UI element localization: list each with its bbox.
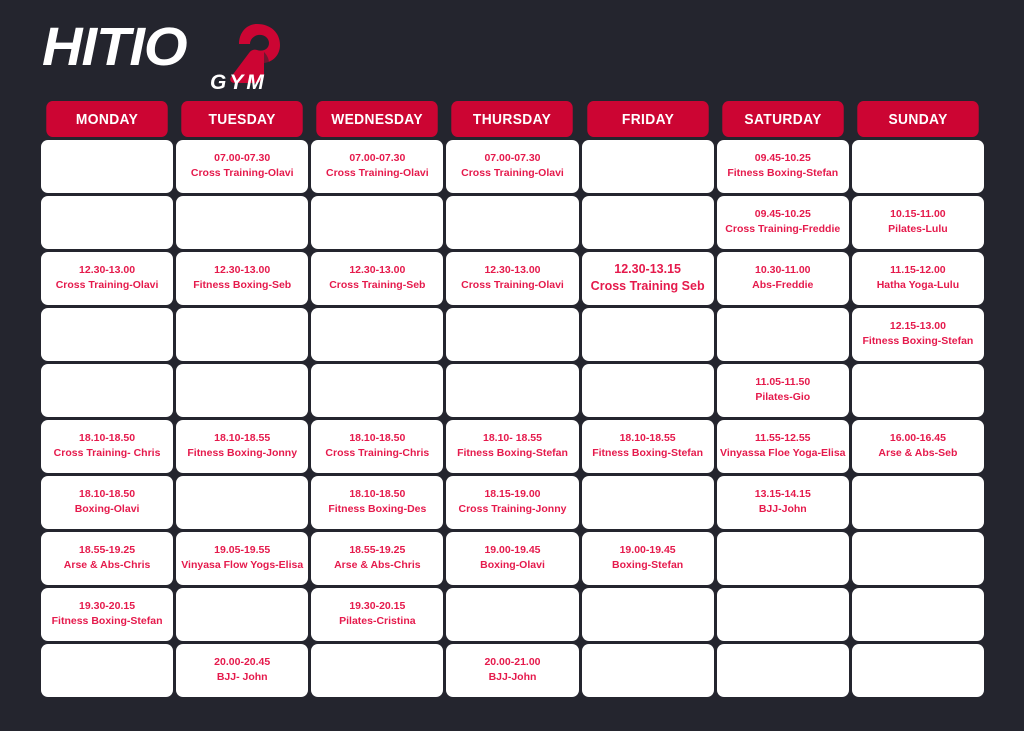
empty-slot [176,308,308,361]
class-name-instructor: Boxing-Olavi [480,560,545,572]
class-slot[interactable]: 18.10-18.55Fitness Boxing-Jonny [176,420,308,473]
class-time: 12.15-13.00 [890,321,946,333]
class-time: 18.10-18.50 [349,489,405,501]
empty-slot [582,196,714,249]
empty-slot [41,308,173,361]
class-name-instructor: Arse & Abs-Chris [334,560,421,572]
class-time: 18.10-18.55 [620,433,676,445]
class-time: 10.15-11.00 [890,209,945,221]
class-name-instructor: Fitness Boxing-Stefan [727,168,838,180]
day-header-thursday: THURSDAY [452,101,574,137]
class-name-instructor: Fitness Boxing-Seb [193,280,291,292]
day-header-saturday: SATURDAY [722,101,844,137]
empty-slot [717,308,849,361]
empty-slot [852,588,984,641]
class-time: 07.00-07.30 [484,153,540,165]
empty-slot [446,588,578,641]
class-time: 11.55-12.55 [755,433,810,445]
class-name-instructor: Cross Training-Olavi [461,280,564,292]
class-time: 09.45-10.25 [755,153,811,165]
empty-slot [582,364,714,417]
empty-slot [176,364,308,417]
class-time: 12.30-13.00 [484,265,540,277]
class-slot[interactable]: 19.00-19.45Boxing-Olavi [446,532,578,585]
class-time: 09.45-10.25 [755,209,811,221]
class-time: 19.30-20.15 [349,601,405,613]
empty-slot [41,140,173,193]
brand-subtitle: GYM [210,72,267,93]
class-time: 18.10-18.55 [214,433,270,445]
class-time: 07.00-07.30 [214,153,270,165]
class-slot[interactable]: 09.45-10.25Cross Training-Freddie [717,196,849,249]
empty-slot [41,644,173,697]
day-header-sunday: SUNDAY [857,101,979,137]
class-name-instructor: Cross Training-Olavi [326,168,429,180]
class-time: 18.10-18.50 [349,433,405,445]
class-slot[interactable]: 19.05-19.55Vinyasa Flow Yogs-Elisa [176,532,308,585]
class-name-instructor: Cross Training-Freddie [725,224,840,236]
empty-slot [446,364,578,417]
empty-slot [311,644,443,697]
class-time: 19.00-19.45 [620,545,676,557]
class-time: 20.00-21.00 [484,657,540,669]
class-slot[interactable]: 19.30-20.15Fitness Boxing-Stefan [41,588,173,641]
class-time: 18.10- 18.55 [483,433,542,445]
day-header-monday: MONDAY [46,101,168,137]
class-name-instructor: Fitness Boxing-Stefan [457,448,568,460]
class-slot[interactable]: 18.10-18.50Boxing-Olavi [41,476,173,529]
class-slot[interactable]: 16.00-16.45Arse & Abs-Seb [852,420,984,473]
empty-slot [717,532,849,585]
class-slot[interactable]: 13.15-14.15BJJ-John [717,476,849,529]
empty-slot [852,140,984,193]
class-name-instructor: Fitness Boxing-Stefan [862,336,973,348]
class-time: 19.05-19.55 [214,545,270,557]
class-slot[interactable]: 12.30-13.00Cross Training-Olavi [41,252,173,305]
class-slot[interactable]: 10.30-11.00Abs-Freddie [717,252,849,305]
class-time: 12.30-13.00 [349,265,405,277]
class-name-instructor: Arse & Abs-Chris [64,560,151,572]
class-time: 10.30-11.00 [755,265,810,277]
class-name-instructor: Arse & Abs-Seb [878,448,957,460]
weekly-schedule-grid: MONDAYTUESDAYWEDNESDAYTHURSDAYFRIDAYSATU… [41,101,984,697]
class-slot[interactable]: 18.10-18.50Fitness Boxing-Des [311,476,443,529]
class-name-instructor: Pilates-Gio [755,392,810,404]
class-slot[interactable]: 18.55-19.25Arse & Abs-Chris [41,532,173,585]
empty-slot [852,476,984,529]
class-slot[interactable]: 07.00-07.30Cross Training-Olavi [446,140,578,193]
class-name-instructor: Cross Training- Chris [54,448,161,460]
empty-slot [41,196,173,249]
empty-slot [311,364,443,417]
class-slot[interactable]: 18.10-18.50Cross Training- Chris [41,420,173,473]
empty-slot [446,196,578,249]
class-slot[interactable]: 18.10-18.50Cross Training-Chris [311,420,443,473]
class-name-instructor: BJJ-John [759,504,807,516]
day-header-tuesday: TUESDAY [181,101,303,137]
class-time: 07.00-07.30 [349,153,405,165]
class-name-instructor: Fitness Boxing-Jonny [187,448,297,460]
class-time: 11.15-12.00 [890,265,945,277]
class-time: 13.15-14.15 [755,489,811,501]
empty-slot [311,308,443,361]
class-name-instructor: Pilates-Lulu [888,224,948,236]
class-name-instructor: Boxing-Stefan [612,560,683,572]
class-slot[interactable]: 20.00-21.00BJJ-John [446,644,578,697]
class-time: 12.30-13.00 [214,265,270,277]
empty-slot [582,588,714,641]
empty-slot [311,196,443,249]
class-name-instructor: Boxing-Olavi [75,504,140,516]
empty-slot [852,364,984,417]
class-name-instructor: BJJ-John [489,672,537,684]
class-slot[interactable]: 11.05-11.50Pilates-Gio [717,364,849,417]
class-name-instructor: Cross Training-Seb [329,280,425,292]
class-slot[interactable]: 12.30-13.00Fitness Boxing-Seb [176,252,308,305]
class-time: 12.30-13.15 [614,263,681,277]
empty-slot [717,588,849,641]
class-time: 18.15-19.00 [484,489,540,501]
class-name-instructor: Abs-Freddie [752,280,813,292]
hitio-gym-logo: HITIO GYM [42,14,292,92]
empty-slot [582,476,714,529]
class-slot[interactable]: 11.55-12.55Vinyassa Floe Yoga-Elisa [717,420,849,473]
class-slot[interactable]: 07.00-07.30Cross Training-Olavi [311,140,443,193]
class-slot[interactable]: 10.15-11.00Pilates-Lulu [852,196,984,249]
class-name-instructor: BJJ- John [217,672,268,684]
class-slot[interactable]: 12.15-13.00Fitness Boxing-Stefan [852,308,984,361]
class-time: 16.00-16.45 [890,433,946,445]
class-name-instructor: Vinyassa Floe Yoga-Elisa [720,448,845,460]
class-name-instructor: Pilates-Cristina [339,616,415,628]
empty-slot [852,644,984,697]
class-time: 19.30-20.15 [79,601,135,613]
empty-slot [717,644,849,697]
empty-slot [582,140,714,193]
class-time: 18.10-18.50 [79,433,135,445]
class-slot[interactable]: 19.00-19.45Boxing-Stefan [582,532,714,585]
class-name-instructor: Cross Training-Jonny [459,504,567,516]
class-time: 12.30-13.00 [79,265,135,277]
class-time: 18.55-19.25 [79,545,135,557]
class-slot[interactable]: 07.00-07.30Cross Training-Olavi [176,140,308,193]
class-name-instructor: Fitness Boxing-Stefan [52,616,163,628]
empty-slot [176,476,308,529]
class-slot[interactable]: 18.15-19.00Cross Training-Jonny [446,476,578,529]
empty-slot [852,532,984,585]
class-slot[interactable]: 12.30-13.00Cross Training-Seb [311,252,443,305]
class-time: 18.10-18.50 [79,489,135,501]
empty-slot [176,196,308,249]
class-slot[interactable]: 12.30-13.00Cross Training-Olavi [446,252,578,305]
class-slot[interactable]: 18.10- 18.55Fitness Boxing-Stefan [446,420,578,473]
class-time: 19.00-19.45 [484,545,540,557]
class-slot[interactable]: 20.00-20.45BJJ- John [176,644,308,697]
class-name-instructor: Hatha Yoga-Lulu [877,280,959,292]
class-slot[interactable]: 12.30-13.15Cross Training Seb [582,252,714,305]
class-name-instructor: Cross Training-Olavi [191,168,294,180]
brand-wordmark: HITIO [42,20,187,74]
class-name-instructor: Cross Training Seb [591,280,705,294]
class-time: 20.00-20.45 [214,657,270,669]
day-header-friday: FRIDAY [587,101,709,137]
day-header-wednesday: WEDNESDAY [317,101,439,137]
class-name-instructor: Cross Training-Olavi [56,280,159,292]
class-time: 18.55-19.25 [349,545,405,557]
class-slot[interactable]: 09.45-10.25Fitness Boxing-Stefan [717,140,849,193]
class-slot[interactable]: 19.30-20.15Pilates-Cristina [311,588,443,641]
class-name-instructor: Vinyasa Flow Yogs-Elisa [181,560,303,572]
empty-slot [582,644,714,697]
empty-slot [582,308,714,361]
class-name-instructor: Fitness Boxing-Des [328,504,426,516]
class-slot[interactable]: 18.55-19.25Arse & Abs-Chris [311,532,443,585]
schedule-page: HITIO GYM MONDAYTUESDAYWEDNESDAYTHURSDAY… [0,0,1024,731]
empty-slot [446,308,578,361]
class-time: 11.05-11.50 [755,377,810,389]
class-name-instructor: Cross Training-Olavi [461,168,564,180]
class-name-instructor: Fitness Boxing-Stefan [592,448,703,460]
class-slot[interactable]: 11.15-12.00Hatha Yoga-Lulu [852,252,984,305]
empty-slot [176,588,308,641]
class-slot[interactable]: 18.10-18.55Fitness Boxing-Stefan [582,420,714,473]
empty-slot [41,364,173,417]
class-name-instructor: Cross Training-Chris [325,448,429,460]
